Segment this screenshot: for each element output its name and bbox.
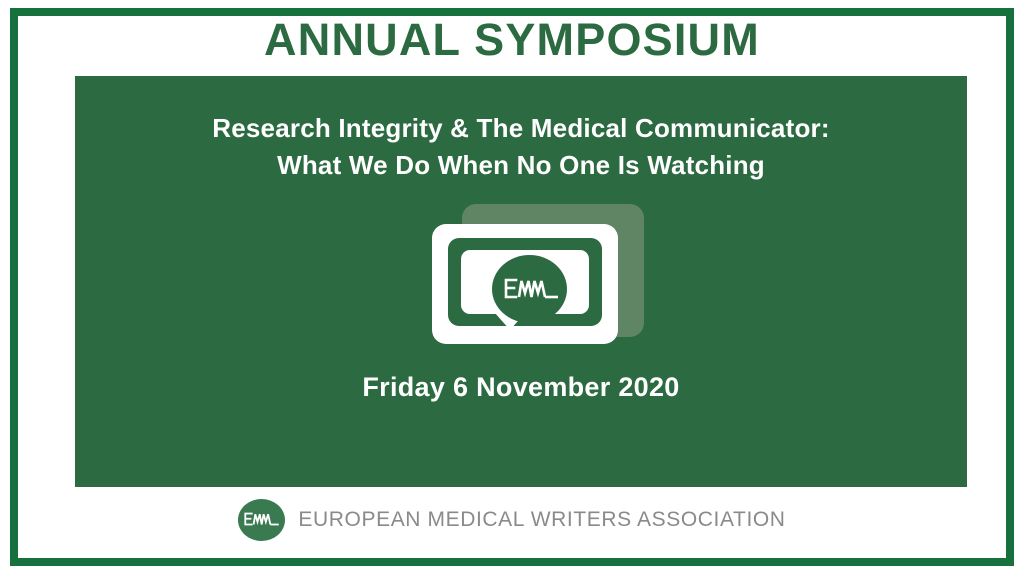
event-date: Friday 6 November 2020 [75,372,967,403]
emwa-wordmark-icon [504,276,560,304]
event-subtitle-line-1: Research Integrity & The Medical Communi… [75,110,967,147]
footer-lockup: EUROPEAN MEDICAL WRITERS ASSOCIATION [0,499,1024,541]
emwa-wordmark-icon [244,511,280,529]
organisation-name: EUROPEAN MEDICAL WRITERS ASSOCIATION [298,508,785,532]
content-panel: Research Integrity & The Medical Communi… [75,76,967,487]
presentation-screen-icon [432,204,644,349]
event-subtitle-line-2: What We Do When No One Is Watching [75,147,967,184]
screen-shape [448,238,602,326]
event-subtitle: Research Integrity & The Medical Communi… [75,110,967,184]
symposium-slide: ANNUAL SYMPOSIUM Research Integrity & Th… [0,0,1024,575]
emwa-circle-logo [492,255,567,323]
emwa-footer-circle-logo [238,499,285,541]
front-card-shape [432,224,618,344]
page-title: ANNUAL SYMPOSIUM [0,14,1024,66]
